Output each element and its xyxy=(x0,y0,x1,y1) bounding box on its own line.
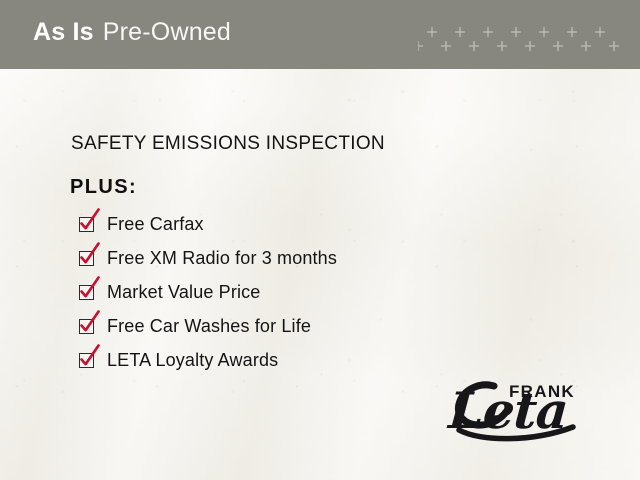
checkbox-checked[interactable] xyxy=(79,251,98,270)
checkbox-checked[interactable] xyxy=(79,217,98,236)
page-title: As IsPre-Owned xyxy=(33,20,231,45)
list-item[interactable]: Free Carfax xyxy=(79,213,499,247)
checkbox-checked[interactable] xyxy=(79,353,98,372)
slide-canvas: As IsPre-Owned xyxy=(0,0,640,480)
headline-text: SAFETY EMISSIONS INSPECTION xyxy=(71,133,385,155)
checkmark-icon xyxy=(77,310,103,336)
list-item[interactable]: Free XM Radio for 3 months xyxy=(79,247,499,281)
plus-sign-pattern-icon xyxy=(418,22,634,56)
list-item[interactable]: LETA Loyalty Awards xyxy=(79,349,499,383)
plus-row-bottom xyxy=(418,41,619,51)
checkbox-checked[interactable] xyxy=(79,285,98,304)
plus-row-top xyxy=(427,27,605,37)
list-item-label: LETA Loyalty Awards xyxy=(107,349,278,372)
list-item-label: Free Car Washes for Life xyxy=(107,315,311,338)
list-item-label: Free XM Radio for 3 months xyxy=(107,247,337,270)
checkmark-icon xyxy=(77,344,103,370)
checkmark-icon xyxy=(77,276,103,302)
list-item-label: Free Carfax xyxy=(107,213,204,236)
benefits-checklist: Free Carfax Free XM Radio for 3 months M… xyxy=(79,213,499,383)
list-item[interactable]: Free Car Washes for Life xyxy=(79,315,499,349)
checkmark-icon xyxy=(77,242,103,268)
list-item-label: Market Value Price xyxy=(107,281,260,304)
page-title-light: Pre-Owned xyxy=(103,18,231,46)
header-band: As IsPre-Owned xyxy=(0,0,640,69)
logo-top-text: FRANK xyxy=(509,383,575,400)
checkbox-checked[interactable] xyxy=(79,319,98,338)
checkmark-icon xyxy=(77,208,103,234)
page-title-strong: As Is xyxy=(33,18,94,46)
frank-leta-logo: Leta FRANK xyxy=(443,378,593,444)
plus-label: PLUS: xyxy=(70,176,137,199)
list-item[interactable]: Market Value Price xyxy=(79,281,499,315)
